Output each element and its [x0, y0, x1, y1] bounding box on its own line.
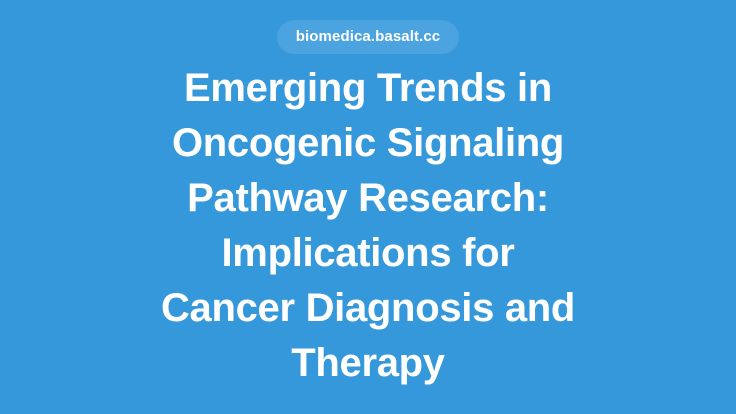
title-line: Therapy — [38, 336, 698, 391]
title-line: Cancer Diagnosis and — [38, 281, 698, 336]
page-title: Emerging Trends in Oncogenic Signaling P… — [38, 61, 698, 391]
title-line: Oncogenic Signaling — [38, 116, 698, 171]
site-domain-badge[interactable]: biomedica.basalt.cc — [277, 20, 459, 54]
title-line: Pathway Research: — [38, 171, 698, 226]
title-line: Implications for — [38, 226, 698, 281]
title-slide: biomedica.basalt.cc Emerging Trends in O… — [0, 0, 736, 414]
title-line: Emerging Trends in — [38, 61, 698, 116]
